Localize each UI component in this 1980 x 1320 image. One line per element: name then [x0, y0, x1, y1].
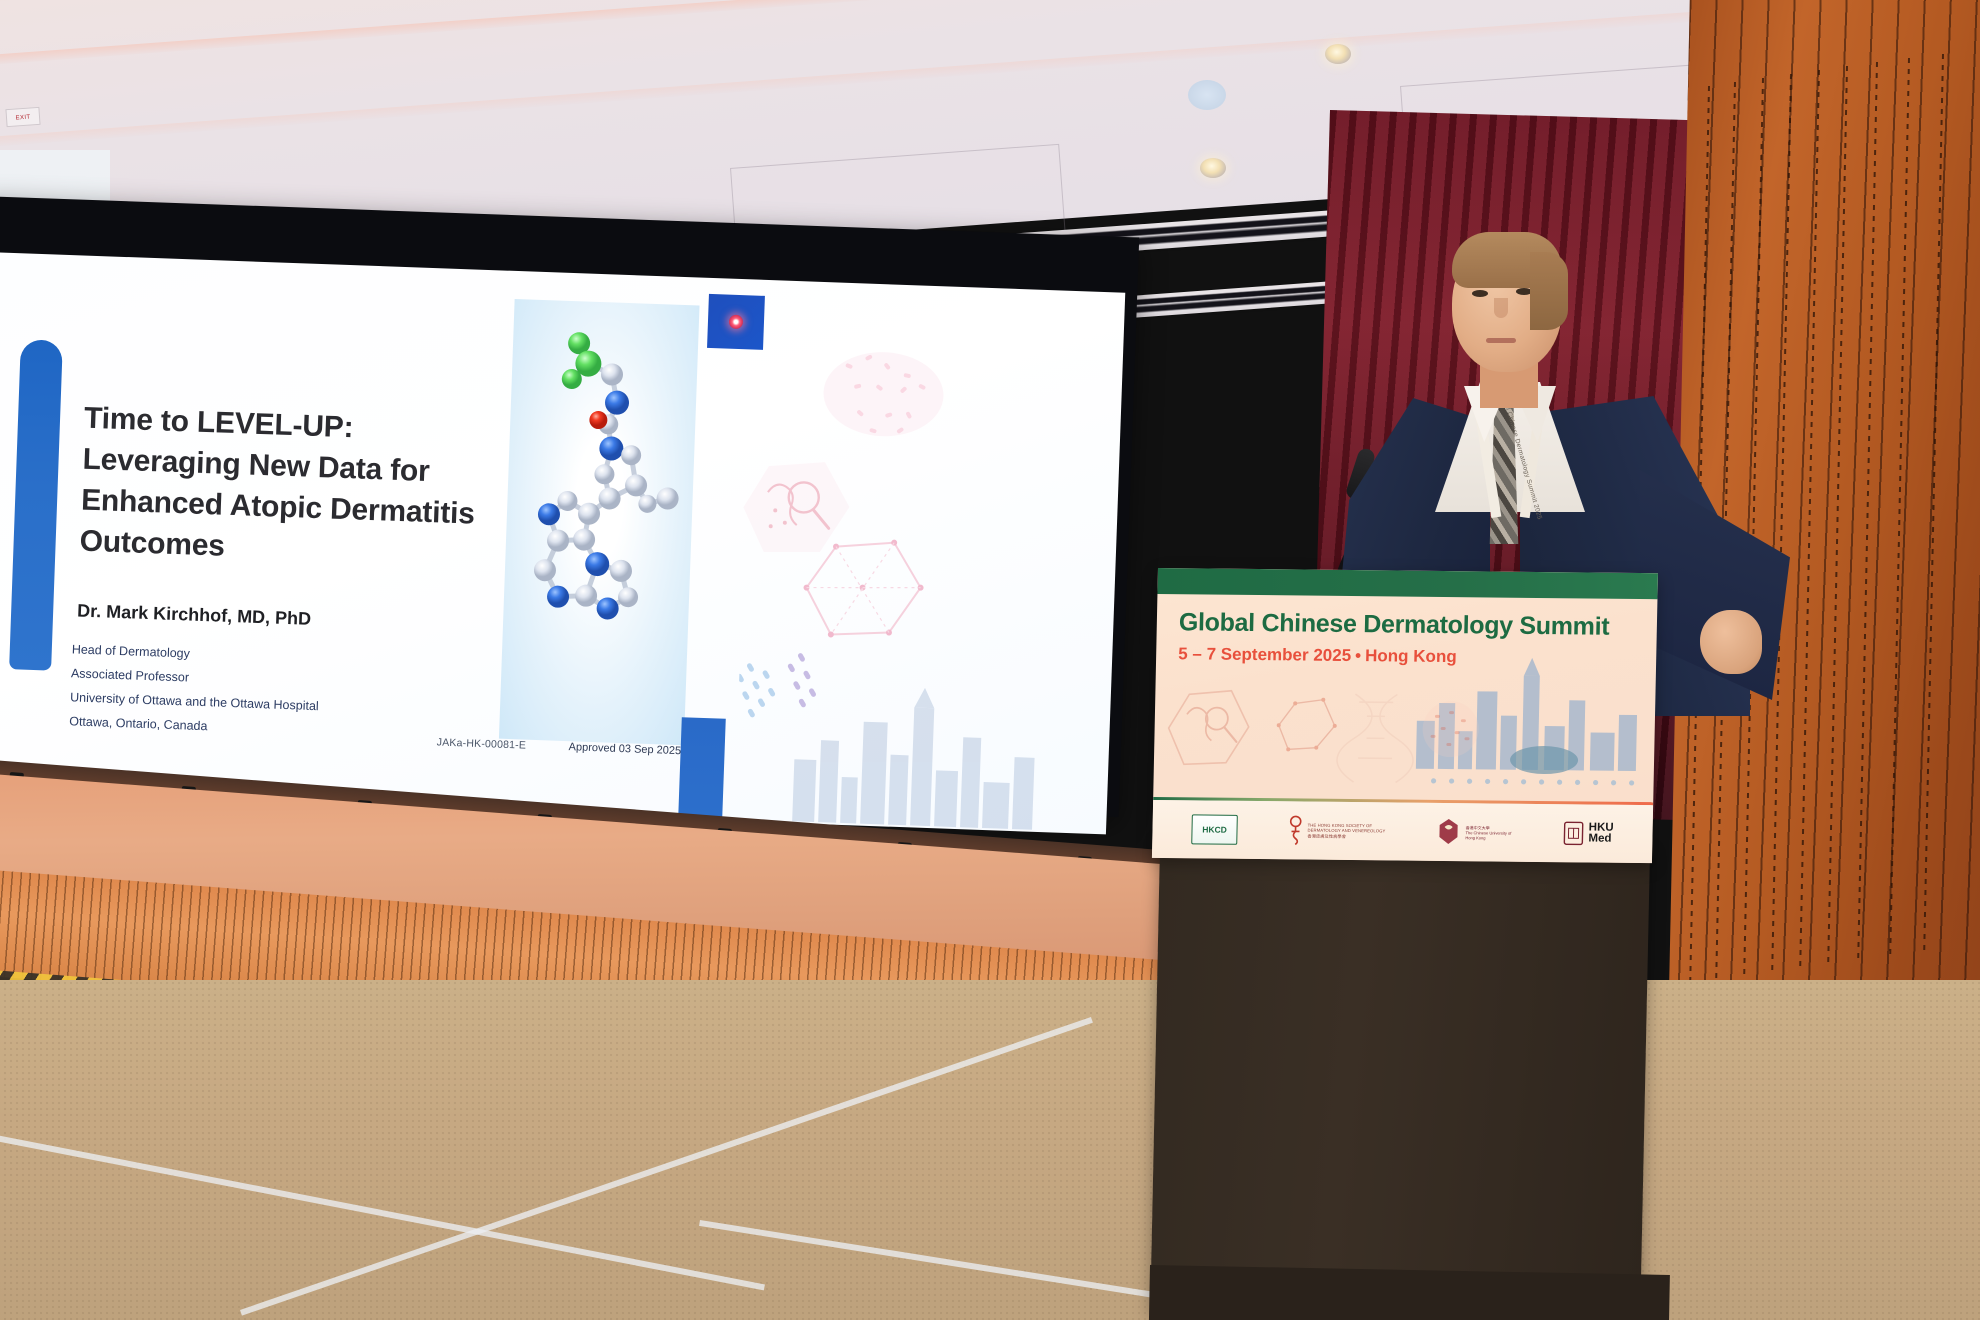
slide-accent-bar	[9, 339, 63, 670]
hkcd-logo-mark: HKCD	[1191, 814, 1238, 844]
banner-graphics	[1163, 680, 1495, 793]
ceiling-sign: EXIT	[5, 107, 40, 127]
slide-title: Time to LEVEL-UP: Leveraging New Data fo…	[79, 398, 515, 577]
podium-base	[1149, 1265, 1670, 1320]
hksdv-line-3: 香港皮膚及性病學會	[1307, 833, 1385, 839]
recessed-downlight-icon	[1200, 158, 1226, 178]
hksdv-logo: THE HONG KONG SOCIETY OF DERMATOLOGY AND…	[1287, 815, 1386, 846]
hksdv-logo-text: THE HONG KONG SOCIETY OF DERMATOLOGY AND…	[1307, 822, 1385, 839]
speaker-eye	[1472, 290, 1488, 297]
speaker-hair-side	[1530, 252, 1568, 330]
cell-cluster-icon	[791, 321, 976, 467]
slide-presenter-affiliations: Head of Dermatology Associated Professor…	[69, 637, 512, 749]
podium-banner: Global Chinese Dermatology Summit 5 – 7 …	[1152, 568, 1658, 863]
hkumed-line-2: Med	[1588, 834, 1613, 846]
cuhk-logo: 香港中文大學 The Chinese University of Hong Ko…	[1435, 817, 1512, 848]
recessed-downlight-icon	[1325, 44, 1351, 64]
hkcd-logo: HKCD	[1191, 814, 1238, 844]
slide-presenter-name: Dr. Mark Kirchhof, MD, PhD	[77, 600, 497, 636]
conference-photo-scene: EXIT Time to LEVEL-UP: Leveraging New Da…	[0, 0, 1980, 1320]
molecule-ball-and-stick-icon	[499, 299, 700, 745]
hkumed-logo-mark	[1561, 819, 1586, 847]
speaker-nose	[1494, 298, 1508, 318]
banner-top-bar	[1157, 568, 1658, 599]
banner-location: Hong Kong	[1365, 646, 1457, 666]
cuhk-logo-mark	[1435, 817, 1462, 847]
presentation-slide: Time to LEVEL-UP: Leveraging New Data fo…	[0, 252, 1125, 834]
slide-blue-square-accent	[707, 294, 765, 350]
hksdv-logo-mark	[1287, 815, 1304, 845]
podium	[1150, 845, 1650, 1320]
speaker-mouth	[1486, 338, 1516, 343]
hong-kong-skyline-icon	[772, 679, 1077, 835]
hkumed-logo: HKU Med	[1561, 819, 1614, 848]
projection-screen: Time to LEVEL-UP: Leveraging New Data fo…	[0, 252, 1125, 834]
cuhk-logo-text: 香港中文大學 The Chinese University of Hong Ko…	[1465, 825, 1511, 840]
ceiling-speaker-icon	[1188, 80, 1226, 110]
speaker-hand	[1700, 610, 1762, 674]
cuhk-en: The Chinese University of Hong Kong	[1465, 830, 1511, 840]
banner-separator: •	[1351, 646, 1365, 665]
banner-logo-strip: HKCD THE HONG KONG SOCIETY OF DERMATOLOG…	[1152, 800, 1653, 863]
target-dot-icon	[729, 315, 743, 329]
hkumed-logo-text: HKU Med	[1588, 822, 1613, 845]
hexagon-network-icon	[797, 533, 931, 648]
banner-title: Global Chinese Dermatology Summit	[1179, 608, 1610, 642]
banner-subtitle: 5 – 7 September 2025•Hong Kong	[1178, 644, 1457, 667]
banner-dates: 5 – 7 September 2025	[1178, 644, 1351, 665]
